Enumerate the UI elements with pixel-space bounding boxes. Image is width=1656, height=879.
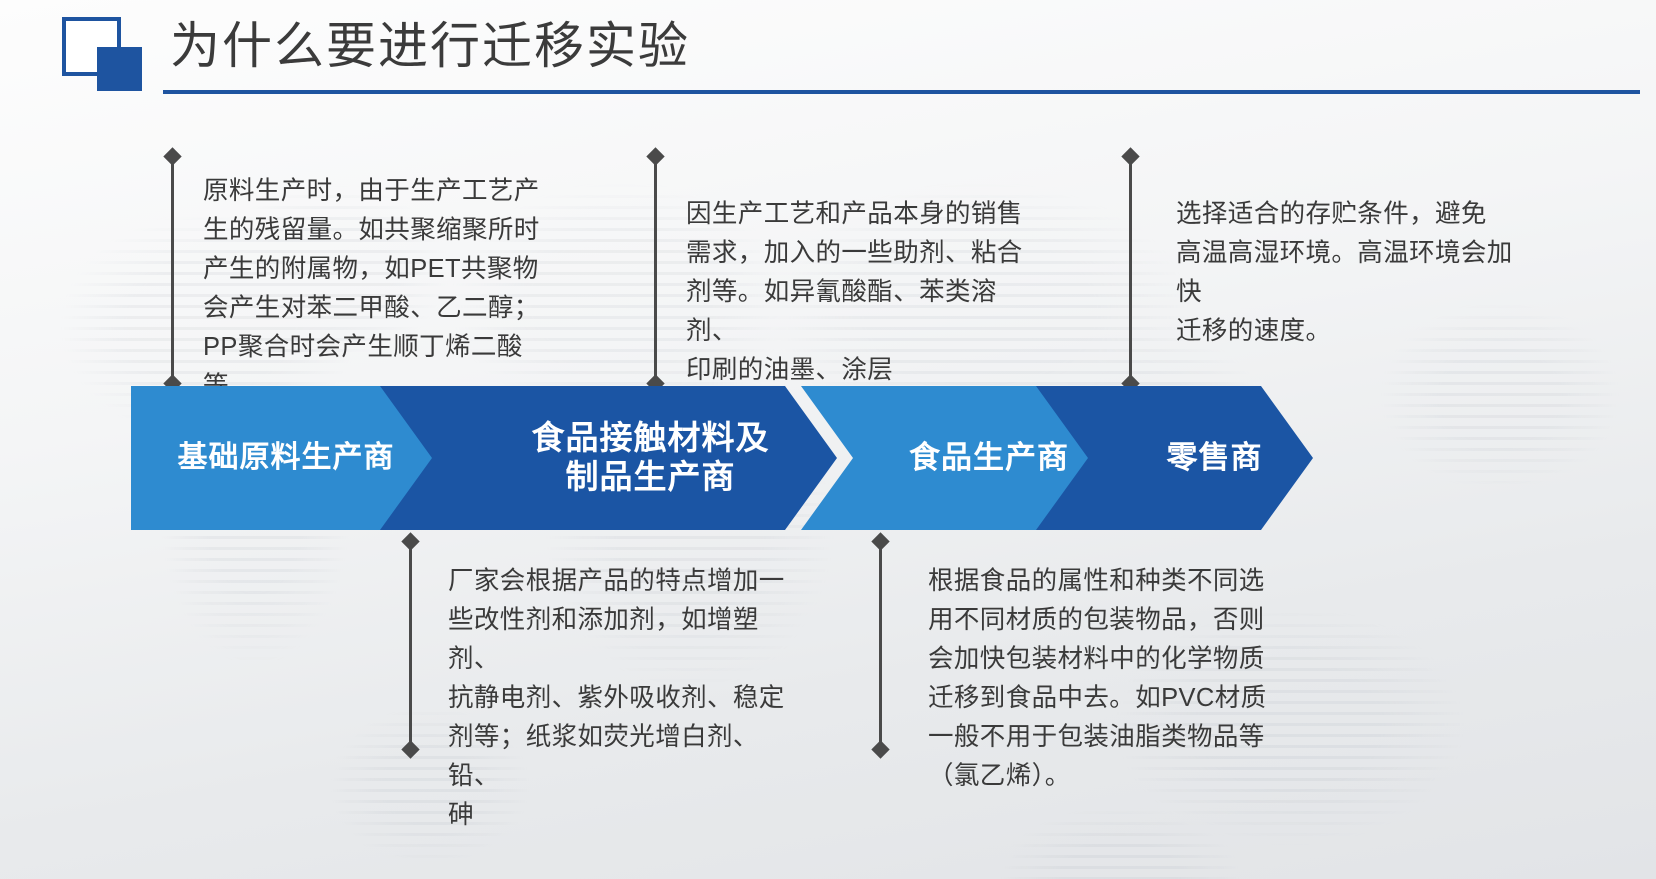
connector-diamond-icon (871, 740, 889, 758)
connector-line-storage (1129, 156, 1132, 384)
callout-storage-conditions: 选择适合的存贮条件，避免 高温高湿环境。高温环境会加快 迁移的速度。 (1176, 195, 1526, 351)
connector-line-modifiers (409, 541, 412, 750)
callout-process-additives: 因生产工艺和产品本身的销售 需求，加入的一些助剂、粘合 剂等。如异氰酸酯、苯类溶… (686, 195, 1031, 390)
process-step-1-label: 基础原料生产商 (178, 440, 395, 475)
process-step-2-label: 食品接触材料及 制品生产商 (532, 419, 770, 497)
connector-diamond-icon (1121, 147, 1139, 165)
process-step-4-label: 零售商 (1167, 440, 1263, 477)
page-title: 为什么要进行迁移实验 (170, 12, 690, 80)
process-step-2[interactable]: 食品接触材料及 制品生产商 (380, 386, 879, 530)
connector-diamond-icon (163, 147, 181, 165)
connector-diamond-icon (401, 532, 419, 550)
connector-diamond-icon (646, 147, 664, 165)
title-underline-rule (163, 90, 1640, 94)
process-chevron-bar: 基础原料生产商 食品接触材料及 制品生产商 食品生产商 零售商 (131, 386, 1313, 530)
double-square-logo-icon (62, 17, 144, 87)
logo-filled-square (97, 47, 142, 91)
callout-modifiers-additives: 厂家会根据产品的特点增加一 些改性剂和添加剂，如增塑剂、 抗静电剂、紫外吸收剂、… (448, 562, 788, 835)
slide-canvas: 为什么要进行迁移实验 原料生产时，由于生产工艺产 生的残留量。如共聚缩聚所时 产… (0, 0, 1656, 879)
connector-line-process-additives (654, 156, 657, 384)
callout-raw-material-residue: 原料生产时，由于生产工艺产 生的残留量。如共聚缩聚所时 产生的附属物，如PET共… (203, 172, 543, 406)
connector-line-packaging (879, 541, 882, 750)
connector-diamond-icon (401, 740, 419, 758)
process-step-3-label: 食品生产商 (909, 440, 1069, 477)
connector-diamond-icon (871, 532, 889, 550)
process-step-1[interactable]: 基础原料生产商 (131, 386, 441, 530)
connector-line-raw-material (171, 156, 174, 384)
callout-packaging-material-choice: 根据食品的属性和种类不同选 用不同材质的包装物品，否则 会加快包装材料中的化学物… (928, 562, 1268, 796)
